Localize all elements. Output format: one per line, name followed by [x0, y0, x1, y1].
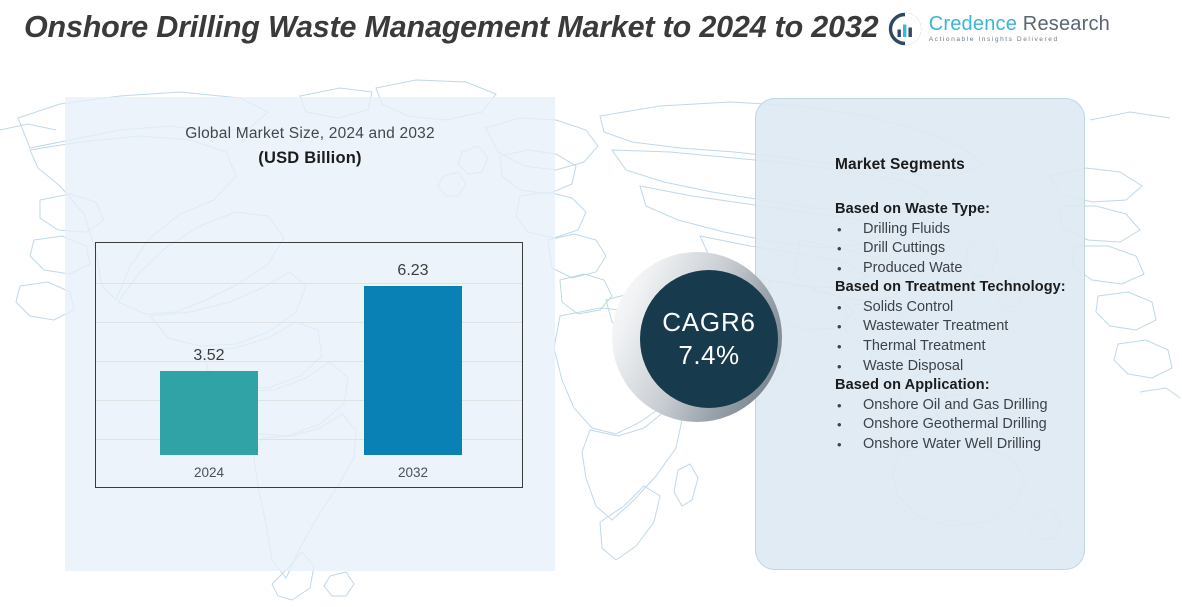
- list-item-label: Onshore Water Well Drilling: [863, 436, 1041, 452]
- bar-value-label-2032: 6.23: [364, 262, 462, 280]
- bar-2032: [364, 286, 462, 455]
- segment-list: •Onshore Oil and Gas Drilling •Onshore G…: [835, 396, 1069, 455]
- list-item: •Onshore Water Well Drilling: [835, 435, 1069, 455]
- list-item-label: Onshore Oil and Gas Drilling: [863, 397, 1048, 413]
- list-item-label: Waste Disposal: [863, 358, 963, 374]
- bullet-icon: •: [837, 259, 842, 279]
- list-item: •Wastewater Treatment: [835, 317, 1069, 337]
- bullet-icon: •: [837, 317, 842, 337]
- list-item-label: Produced Wate: [863, 260, 962, 276]
- list-item: •Waste Disposal: [835, 357, 1069, 377]
- segment-group-waste-type: Based on Waste Type: •Drilling Fluids •D…: [835, 200, 1069, 278]
- cagr-badge: CAGR6 7.4%: [612, 252, 808, 428]
- list-item-label: Thermal Treatment: [863, 338, 986, 354]
- list-item: •Produced Wate: [835, 259, 1069, 279]
- credence-bar-chart-circle-icon: [888, 12, 922, 46]
- list-item: •Onshore Oil and Gas Drilling: [835, 396, 1069, 416]
- bullet-icon: •: [837, 396, 842, 416]
- credence-research-logo: Credence Research Actionable Insights De…: [888, 12, 1110, 46]
- bar-category-label-2032: 2032: [364, 465, 462, 480]
- logo-brand-second: Research: [1017, 13, 1110, 35]
- segment-group-treatment-technology: Based on Treatment Technology: •Solids C…: [835, 278, 1069, 376]
- segments-heading: Market Segments: [835, 156, 1069, 174]
- list-item: •Drilling Fluids: [835, 220, 1069, 240]
- cagr-value: 7.4%: [678, 340, 739, 371]
- list-item: •Onshore Geothermal Drilling: [835, 415, 1069, 435]
- cagr-circle: CAGR6 7.4%: [640, 270, 778, 408]
- segment-group-title: Based on Treatment Technology:: [835, 278, 1069, 298]
- logo-tagline: Actionable Insights Delivered: [929, 37, 1110, 44]
- gridline: [96, 283, 522, 284]
- segment-list: •Drilling Fluids •Drill Cuttings •Produc…: [835, 220, 1069, 279]
- list-item-label: Drill Cuttings: [863, 240, 945, 256]
- list-item: •Solids Control: [835, 298, 1069, 318]
- list-item-label: Onshore Geothermal Drilling: [863, 416, 1047, 432]
- list-item: •Thermal Treatment: [835, 337, 1069, 357]
- bar-2024: [160, 371, 258, 455]
- logo-wordmark: Credence Research Actionable Insights De…: [929, 14, 1110, 44]
- segment-group-title: Based on Waste Type:: [835, 200, 1069, 220]
- cagr-label: CAGR6: [662, 307, 756, 338]
- list-item-label: Wastewater Treatment: [863, 318, 1008, 334]
- segment-group-title: Based on Application:: [835, 376, 1069, 396]
- list-item-label: Solids Control: [863, 299, 953, 315]
- list-item: •Drill Cuttings: [835, 239, 1069, 259]
- chart-title: Global Market Size, 2024 and 2032: [65, 125, 555, 143]
- page-title: Onshore Drilling Waste Management Market…: [24, 6, 884, 48]
- infographic-root: Onshore Drilling Waste Management Market…: [0, 0, 1182, 607]
- bullet-icon: •: [837, 220, 842, 240]
- chart-panel: Global Market Size, 2024 and 2032 (USD B…: [65, 97, 555, 571]
- bullet-icon: •: [837, 337, 842, 357]
- bar-value-label-2024: 3.52: [160, 347, 258, 365]
- bullet-icon: •: [837, 357, 842, 377]
- bullet-icon: •: [837, 298, 842, 318]
- chart-subtitle: (USD Billion): [65, 149, 555, 168]
- bullet-icon: •: [837, 239, 842, 259]
- logo-brand: Credence Research: [929, 14, 1110, 34]
- bar-chart-plot-area: 3.52 2024 6.23 2032: [95, 242, 523, 488]
- list-item-label: Drilling Fluids: [863, 221, 950, 237]
- logo-brand-first: Credence: [929, 13, 1017, 35]
- segment-list: •Solids Control •Wastewater Treatment •T…: [835, 298, 1069, 376]
- bullet-icon: •: [837, 435, 842, 455]
- bullet-icon: •: [837, 415, 842, 435]
- bar-category-label-2024: 2024: [160, 465, 258, 480]
- segment-group-application: Based on Application: •Onshore Oil and G…: [835, 376, 1069, 454]
